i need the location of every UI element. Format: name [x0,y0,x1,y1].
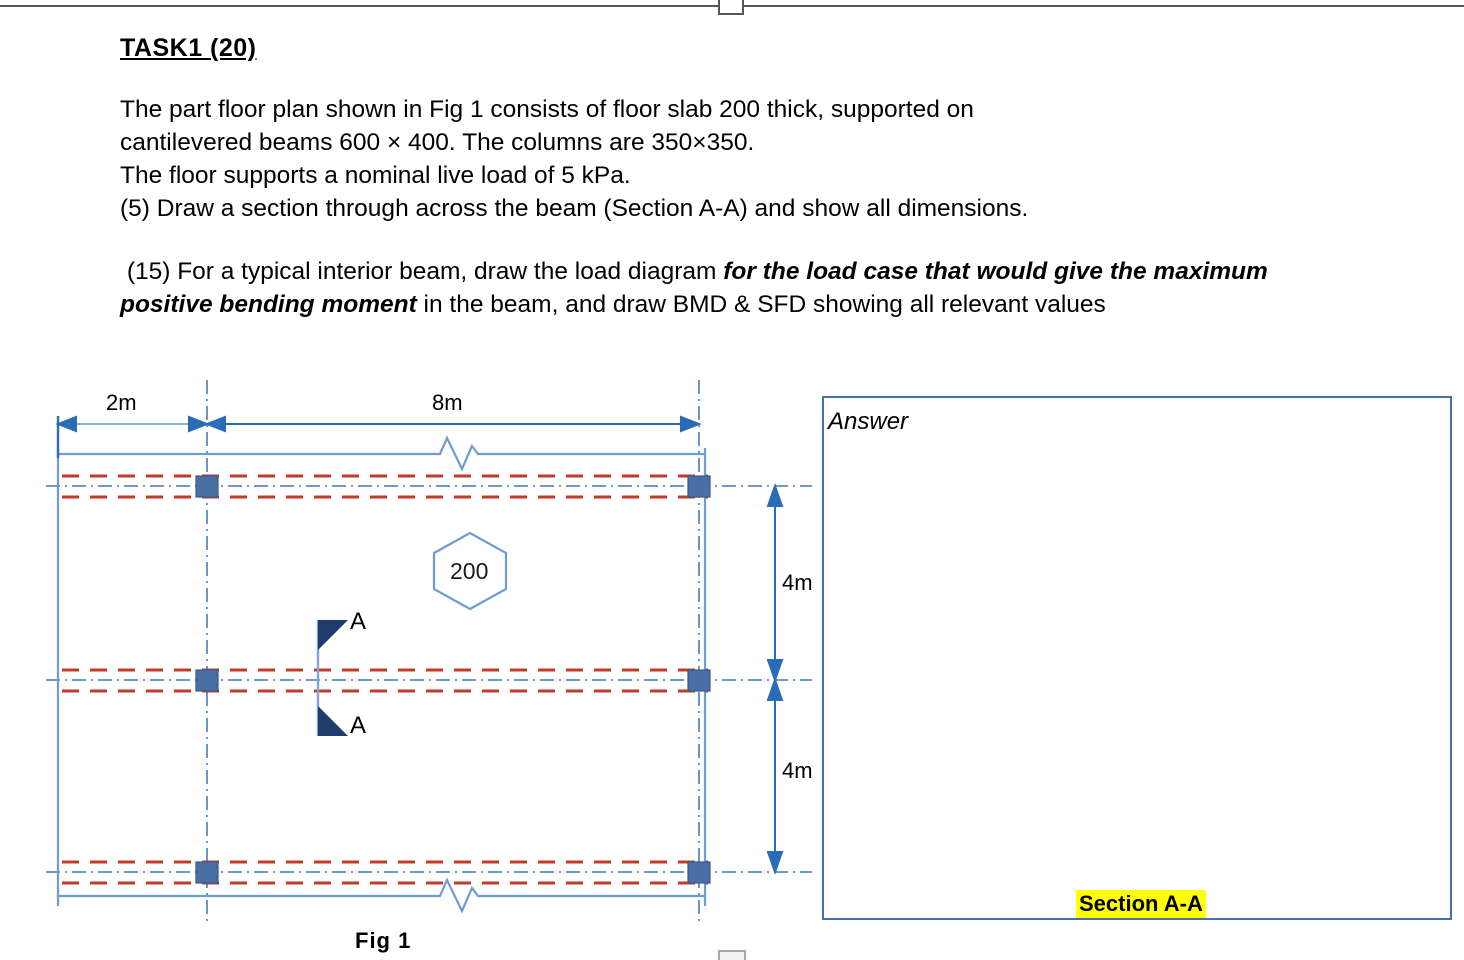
page-title: TASK1 (20) [120,34,1350,63]
section-label-a-bottom: A [350,712,366,740]
section-arrow-bottom [318,706,348,736]
slab-outline [58,438,705,911]
dimension-horizontal-group [58,416,699,458]
question-paragraph-2: (15) For a typical interior beam, draw t… [120,255,1350,321]
dimension-label-8m: 8m [432,390,463,416]
dimension-arrowhead-8m-right [681,417,699,431]
section-aa-caption: Section A-A [1076,890,1206,918]
question-paragraph-1: The part floor plan shown in Fig 1 consi… [120,93,1350,225]
floor-plan-figure: 2m 8m 4m 4m 200 A A Fig 1 [0,376,820,960]
dimension-arrowhead-2m-left [58,417,76,431]
section-cut-marker [318,620,348,736]
column-middle-right [688,670,710,691]
column-middle-left [196,670,218,691]
dimension-arrowhead-4m-upper-top [768,486,782,506]
dimension-arrowhead-4m-lower-bottom [768,852,782,872]
page-break-notch-top [718,0,744,15]
answer-box[interactable] [822,396,1452,920]
question-line-2: cantilevered beams 600 × 400. The column… [120,129,754,156]
column-top-right [688,476,710,497]
question-line-3: The floor supports a nominal live load o… [120,162,631,189]
question-line-4: (5) Draw a section through across the be… [120,195,1028,222]
dimension-vertical-group [768,486,782,872]
slab-thickness-label: 200 [450,558,488,585]
column-bottom-left [196,862,218,883]
question-line-1: The part floor plan shown in Fig 1 consi… [120,96,974,123]
column-bottom-right [688,862,710,883]
dimension-label-4m-upper: 4m [782,570,813,596]
question-text-block: TASK1 (20) The part floor plan shown in … [120,34,1350,321]
dimension-label-4m-lower: 4m [782,758,813,784]
question-part-b-post: in the beam, and draw BMD & SFD showing … [417,291,1106,318]
dimension-arrowhead-8m-left [207,417,225,431]
section-label-a-top: A [350,608,366,636]
dimension-label-2m: 2m [106,390,137,416]
answer-placeholder-label: Answer [828,408,908,436]
section-arrow-top [318,620,348,650]
dimension-arrowhead-4m-lower-top [768,680,782,700]
column-top-left [196,476,218,497]
figure-caption: Fig 1 [355,928,411,954]
question-part-b-pre: (15) For a typical interior beam, draw t… [120,258,723,285]
